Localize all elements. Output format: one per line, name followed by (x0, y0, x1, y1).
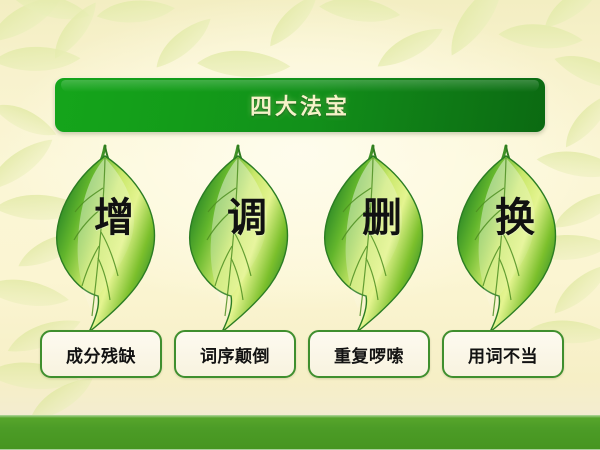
title-banner: 四大法宝 (55, 78, 545, 132)
label-pill-text: 重复啰嗦 (334, 342, 404, 367)
band-highlight (0, 415, 600, 418)
label-pill-2[interactable]: 词序颠倒 (174, 330, 296, 378)
label-pill-1[interactable]: 成分残缺 (40, 330, 162, 378)
slide-canvas: 四大法宝 (0, 0, 600, 450)
label-pill-4[interactable]: 用词不当 (442, 330, 564, 378)
label-pill-text: 成分残缺 (66, 342, 136, 367)
page-title: 四大法宝 (250, 89, 350, 121)
leaf-column-2[interactable]: 调 (175, 140, 303, 355)
leaf-icon (42, 140, 170, 340)
leaf-column-1[interactable]: 增 (42, 140, 170, 355)
leaf-graphic-4 (443, 140, 571, 340)
label-pill-text: 词序颠倒 (200, 342, 270, 367)
leaf-graphic-1 (42, 140, 170, 340)
leaf-column-3[interactable]: 删 (310, 140, 438, 355)
leaf-icon (310, 140, 438, 340)
leaf-column-4[interactable]: 换 (443, 140, 571, 355)
leaf-graphic-2 (175, 140, 303, 340)
leaf-graphic-3 (310, 140, 438, 340)
bottom-green-band (0, 415, 600, 450)
leaf-icon (175, 140, 303, 340)
label-pill-3[interactable]: 重复啰嗦 (308, 330, 430, 378)
label-pill-text: 用词不当 (468, 342, 538, 367)
leaf-icon (443, 140, 571, 340)
